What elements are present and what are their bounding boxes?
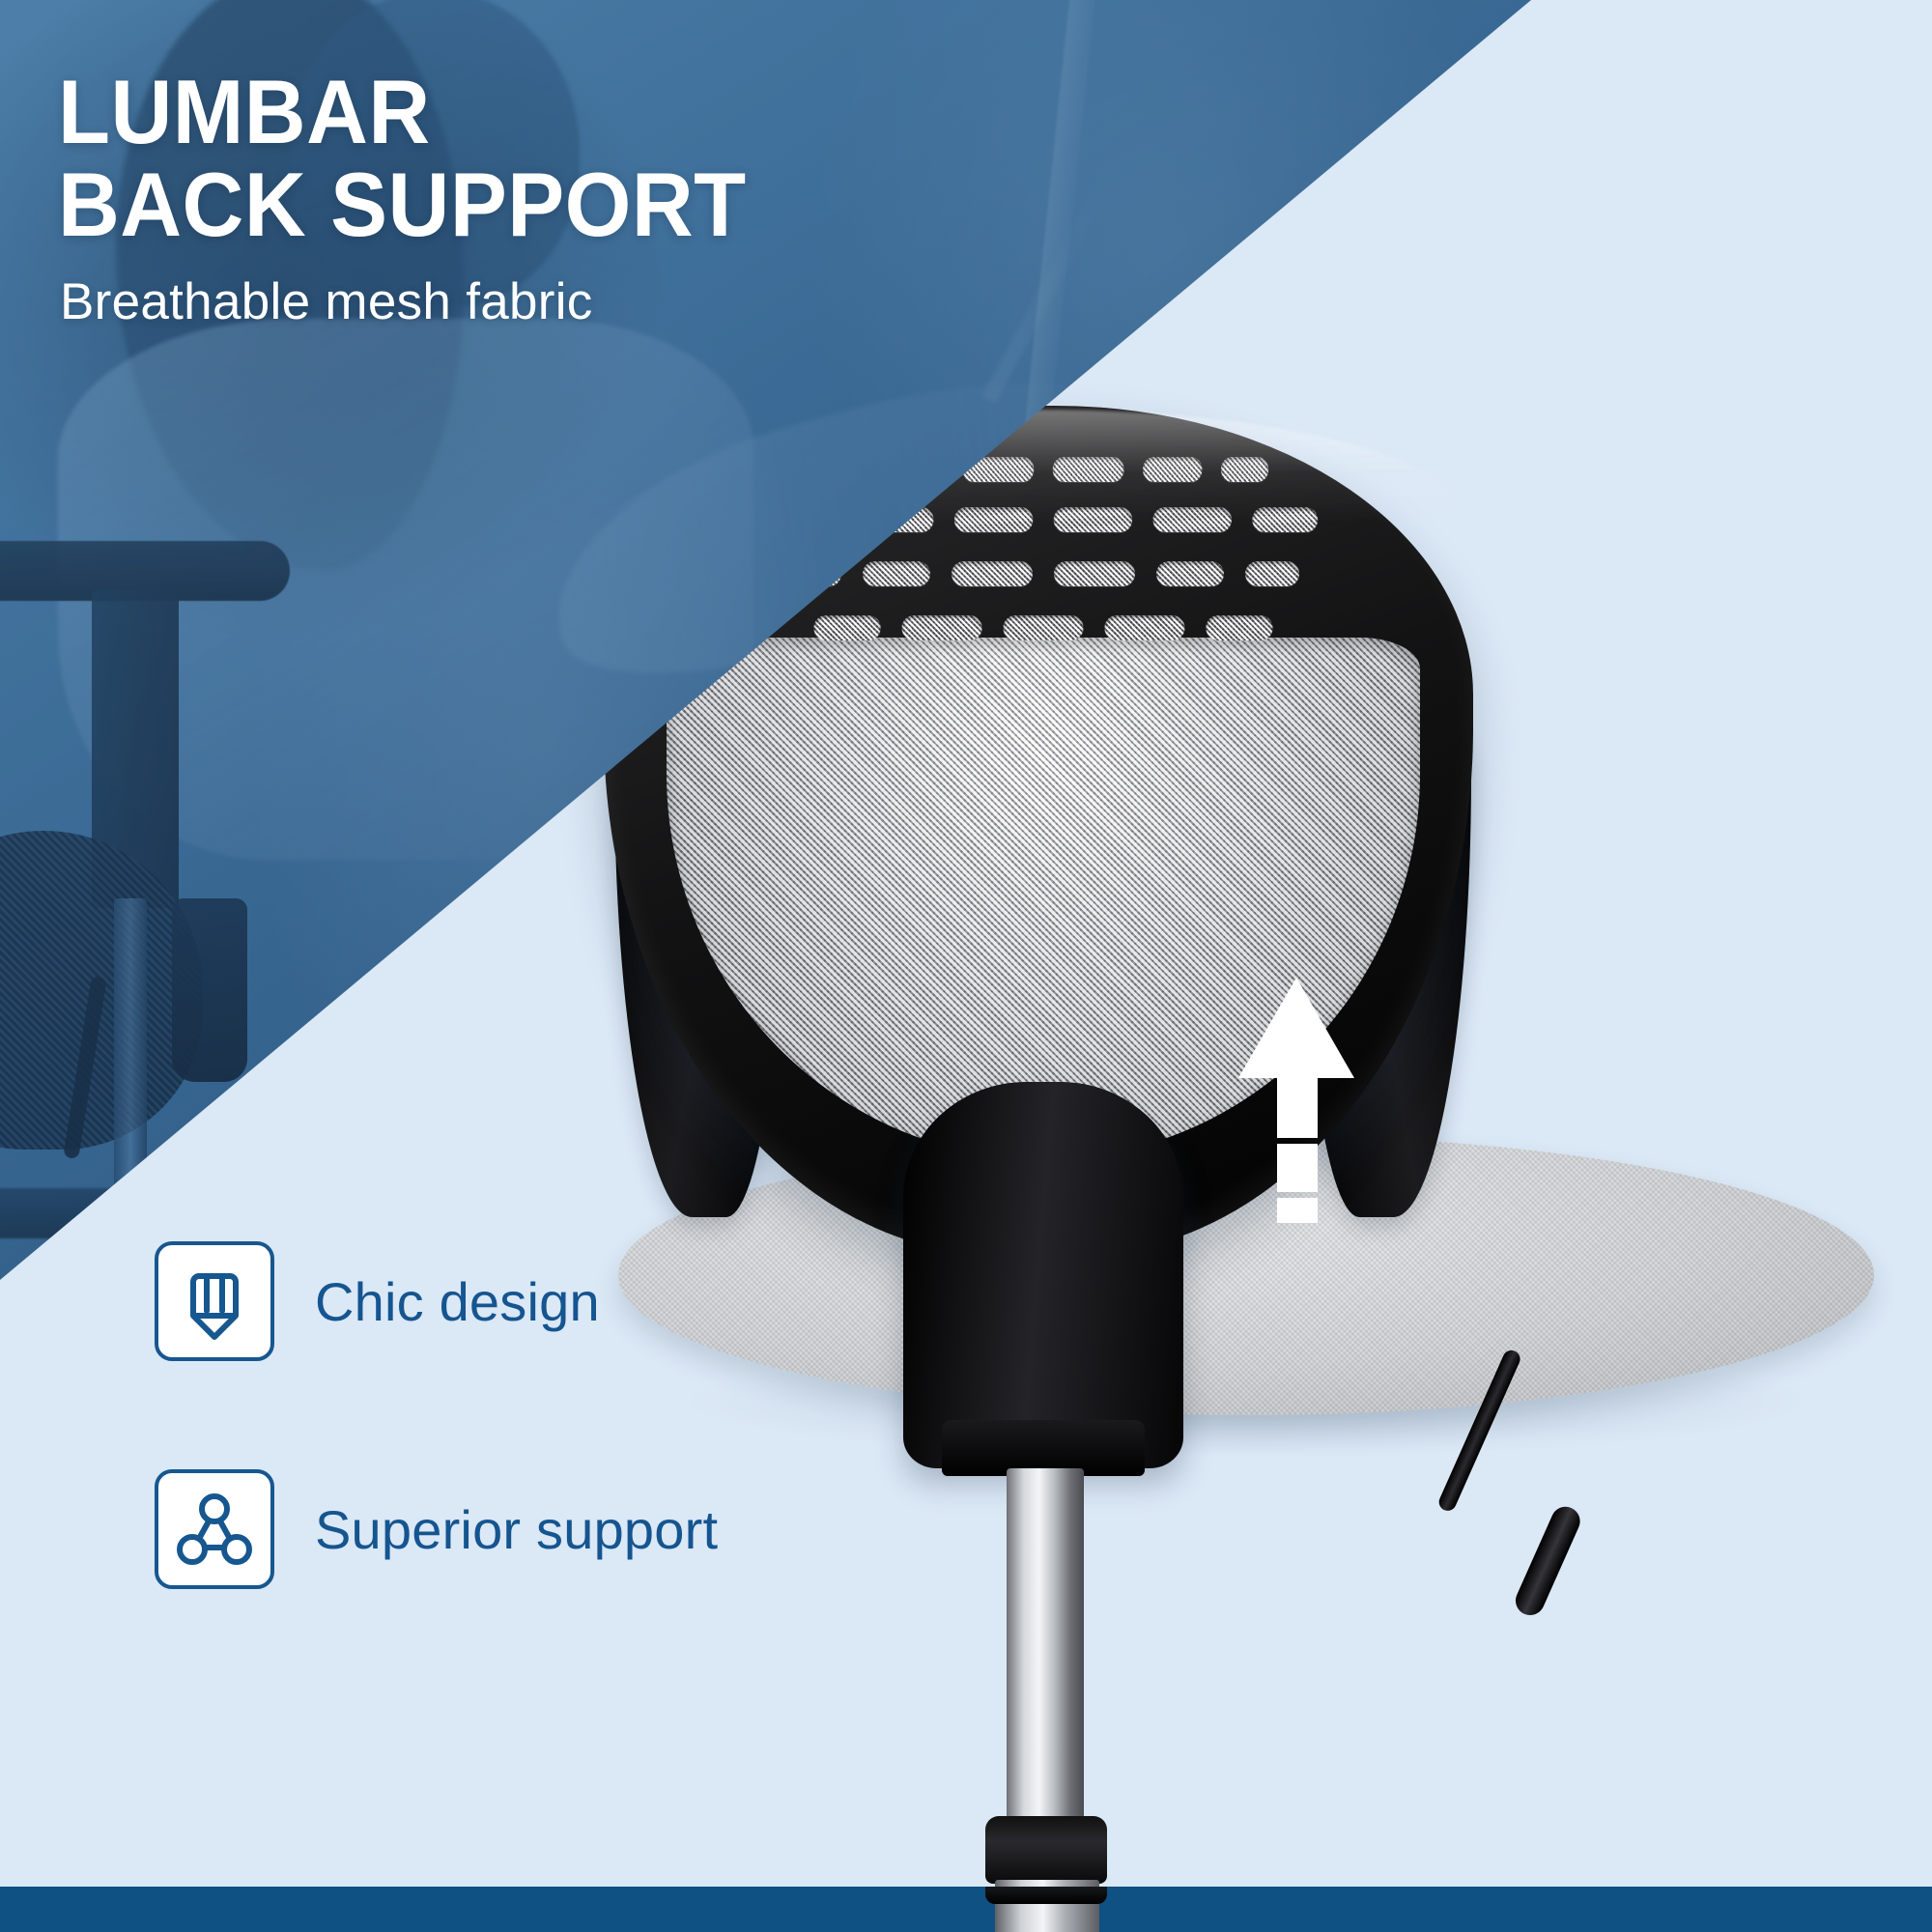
mesh-slot [952,561,1033,586]
headline-line-2: BACK SUPPORT [58,158,1148,251]
triangle-network-icon [155,1469,274,1589]
lever-grip [1511,1502,1584,1620]
triangle-network-icon-svg [175,1490,254,1569]
bottom-brand-bar [0,1887,1932,1932]
arrow-shaft-segment [1277,1078,1318,1138]
mesh-slot [1156,561,1224,586]
headline-line-1: LUMBAR [58,61,431,162]
headline: LUMBAR BACK SUPPORT [58,66,1148,251]
feature-label: Superior support [315,1498,718,1561]
pencil-icon-svg [176,1263,253,1340]
mesh-slot [1003,615,1083,640]
chrome-gas-cylinder [1007,1468,1084,1826]
mesh-slot [1245,561,1299,586]
mesh-slot [1104,615,1184,640]
up-arrow-icon [1229,978,1364,1229]
pencil-icon [155,1241,274,1361]
feature-list: Chic design Superior support [155,1241,718,1697]
cylinder-collar-over-bar [985,1887,1107,1904]
mesh-slot [813,615,880,640]
mesh-slot [863,561,930,586]
feature-label: Chic design [315,1270,600,1333]
cylinder-collar [985,1816,1107,1884]
subheadline: Breathable mesh fabric [60,272,593,331]
mesh-slot [901,615,981,640]
arrow-head [1238,978,1354,1078]
feature-item-superior-support: Superior support [155,1469,718,1589]
mesh-slot [1054,561,1135,586]
backrest-center-stem [903,1082,1183,1468]
mesh-slot [1206,615,1272,640]
arrow-shaft-segment [1277,1144,1318,1192]
product-banner: LUMBAR BACK SUPPORT Breathable mesh fabr… [0,0,1932,1932]
arrow-shaft-segment [1277,1198,1318,1223]
feature-item-chic-design: Chic design [155,1241,718,1361]
